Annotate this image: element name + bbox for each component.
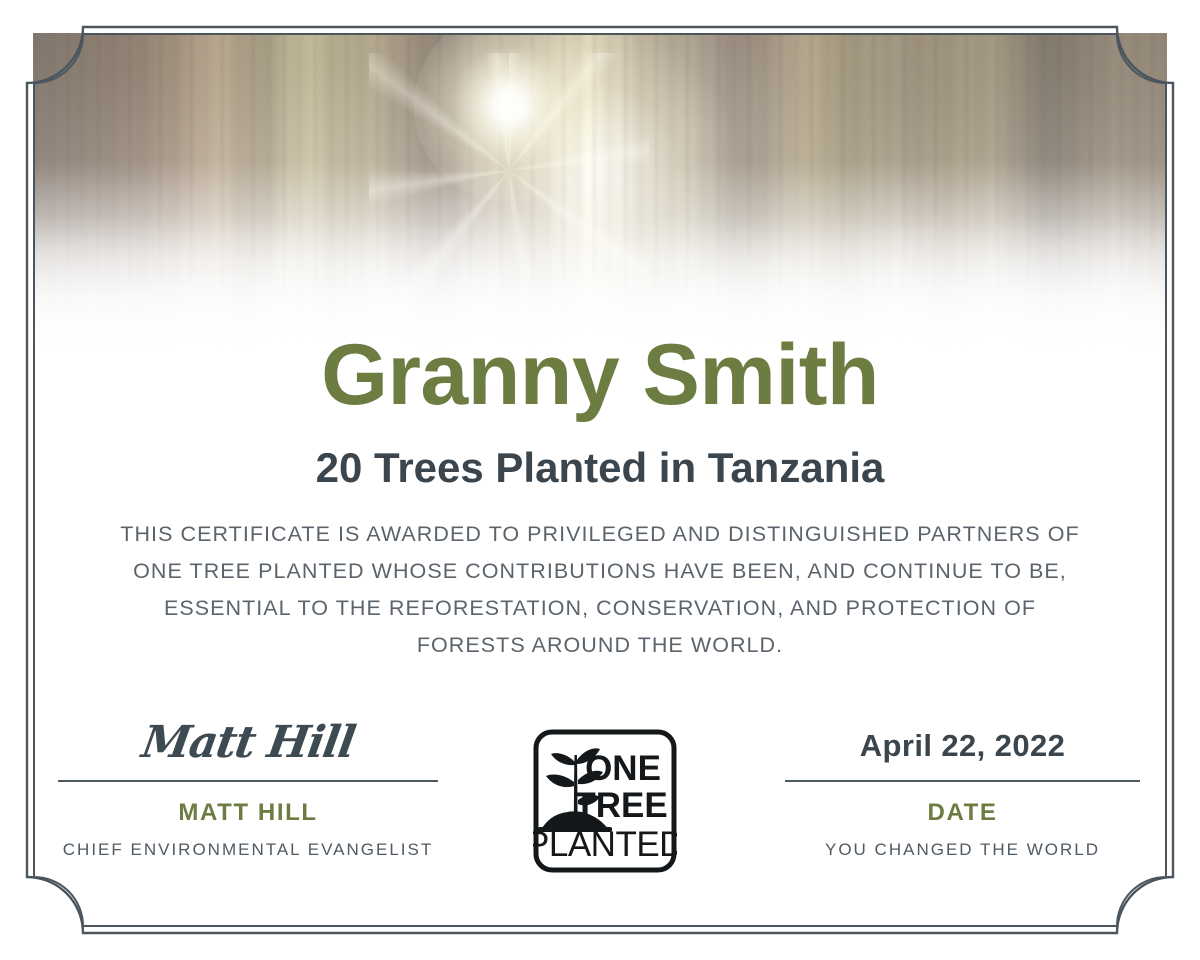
logo-text-one: ONE [585, 749, 661, 788]
date-rule [785, 780, 1140, 782]
signature-rule [58, 780, 438, 782]
logo-text-planted: PLANTED [533, 825, 677, 864]
date-value: April 22, 2022 [785, 712, 1140, 774]
logo-svg: ONE TREE PLANTED [533, 722, 677, 880]
one-tree-planted-logo: ONE TREE PLANTED [533, 722, 677, 880]
certificate: Granny Smith 20 Trees Planted in Tanzani… [0, 0, 1200, 960]
award-line: 20 Trees Planted in Tanzania [0, 447, 1200, 489]
signatory-name: MATT HILL [58, 799, 438, 827]
signature-block: Matt Hill MATT HILL CHIEF ENVIRONMENTAL … [58, 712, 438, 860]
certificate-content: Granny Smith 20 Trees Planted in Tanzani… [0, 0, 1200, 960]
signatory-title: CHIEF ENVIRONMENTAL EVANGELIST [58, 840, 438, 860]
logo-text-tree: TREE [574, 786, 667, 825]
signature-script: Matt Hill [53, 712, 443, 774]
recipient-name: Granny Smith [0, 332, 1200, 418]
date-label: DATE [785, 799, 1140, 827]
date-caption: YOU CHANGED THE WORLD [785, 840, 1140, 860]
date-block: April 22, 2022 DATE YOU CHANGED THE WORL… [785, 712, 1140, 860]
certificate-statement: THIS CERTIFICATE IS AWARDED TO PRIVILEGE… [110, 516, 1090, 664]
